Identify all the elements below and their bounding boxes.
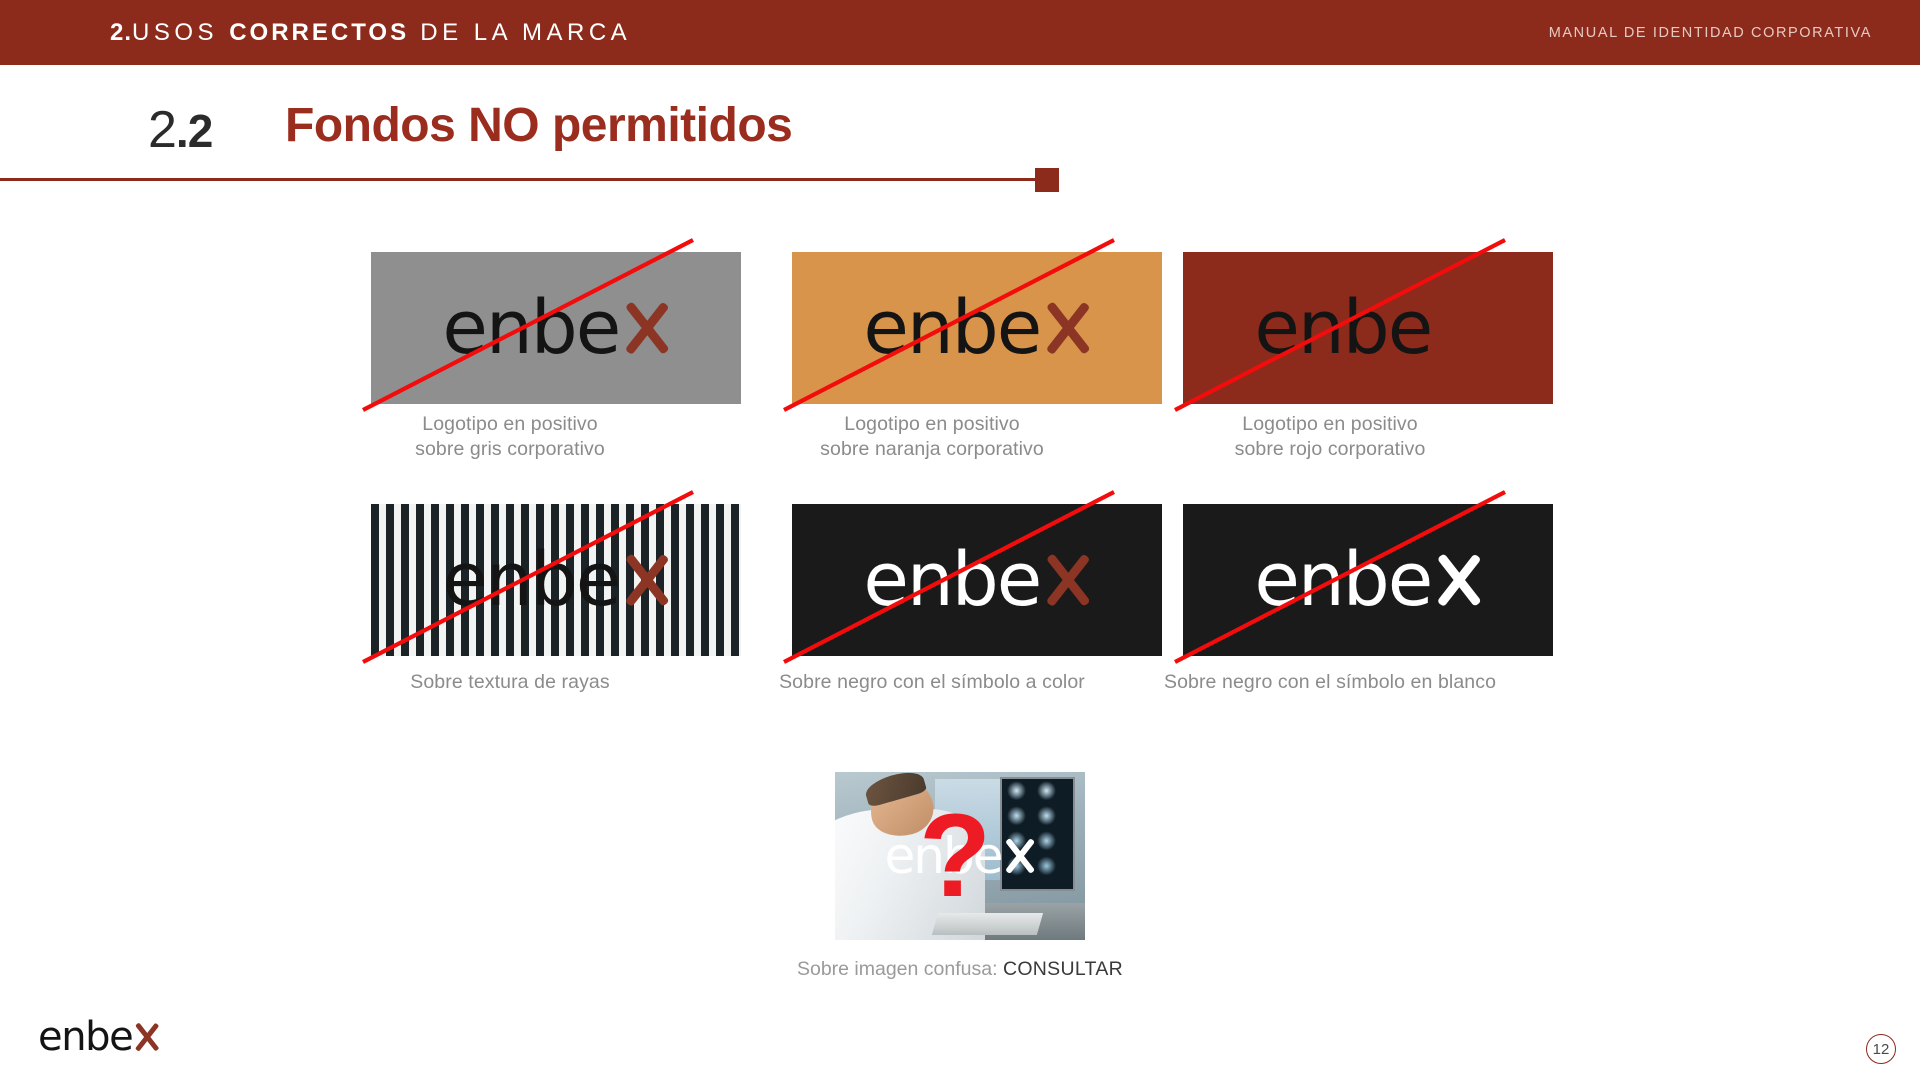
sample-swatch: enbe bbox=[1183, 504, 1553, 656]
logo-x-symbol-icon bbox=[624, 557, 670, 603]
sample-caption-line-1: Logotipo en positivo bbox=[722, 412, 1142, 437]
confusing-photo-sample: enbe ? bbox=[835, 772, 1085, 940]
sample-card-imagen-confusa: enbe ? Sobre imagen confusa: CONSULTAR bbox=[750, 772, 1170, 940]
title-rule bbox=[0, 178, 1035, 181]
sample-caption: Logotipo en positivo sobre rojo corporat… bbox=[1120, 412, 1540, 461]
logo-wordmark: enbe bbox=[442, 543, 619, 617]
header-section-number: 2. bbox=[110, 19, 132, 46]
sample-caption-line-2: sobre gris corporativo bbox=[300, 437, 720, 462]
sample-caption-line-1: Logotipo en positivo bbox=[1120, 412, 1540, 437]
sample-caption-line-1: Sobre textura de rayas bbox=[300, 670, 720, 695]
sample-caption-line-2: sobre rojo corporativo bbox=[1120, 437, 1540, 462]
question-mark-icon: ? bbox=[919, 797, 991, 915]
logo-x-symbol-icon bbox=[1045, 557, 1091, 603]
logo-wordmark: enbe bbox=[863, 543, 1040, 617]
header-manual-label: MANUAL DE IDENTIDAD CORPORATIVA bbox=[1549, 25, 1872, 41]
logo-wordmark: enbe bbox=[1254, 291, 1431, 365]
sample-caption: Sobre negro con el símbolo en blanco bbox=[1120, 670, 1540, 695]
sample-swatch: enbe bbox=[1183, 252, 1553, 404]
page-header: 2.USOS CORRECTOS DE LA MARCA MANUAL DE I… bbox=[0, 0, 1920, 65]
sample-caption-line-1: Sobre negro con el símbolo a color bbox=[722, 670, 1142, 695]
enbex-logo: enbe bbox=[442, 543, 669, 617]
logo-overlay: enbe bbox=[1183, 252, 1553, 404]
sample-caption: Sobre imagen confusa: CONSULTAR bbox=[750, 958, 1170, 981]
logo-x-symbol-icon bbox=[1436, 557, 1482, 603]
section-number-minor: .2 bbox=[176, 105, 212, 157]
footer-brand-logo: enbe bbox=[38, 1014, 159, 1060]
page-title: Fondos NO permitidos bbox=[285, 98, 792, 153]
sample-caption: Logotipo en positivo sobre naranja corpo… bbox=[722, 412, 1142, 461]
logo-wordmark: enbe bbox=[442, 291, 619, 365]
logo-x-symbol-icon bbox=[624, 305, 670, 351]
logo-overlay: enbe bbox=[371, 252, 741, 404]
enbex-logo: enbe bbox=[442, 291, 669, 365]
sample-caption-line-1: Logotipo en positivo bbox=[300, 412, 720, 437]
sample-swatch: enbe bbox=[792, 252, 1162, 404]
header-section-title: 2.USOS CORRECTOS DE LA MARCA bbox=[110, 19, 631, 47]
sample-swatch: enbe bbox=[371, 252, 741, 404]
enbex-logo: enbe bbox=[1254, 291, 1481, 365]
page-number-badge: 12 bbox=[1866, 1034, 1896, 1064]
enbex-logo: enbe bbox=[1254, 543, 1481, 617]
sample-caption: Sobre textura de rayas bbox=[300, 670, 720, 695]
sample-card-negro-simbolo-blanco: enbe Sobre negro con el símbolo en blanc… bbox=[1120, 504, 1540, 656]
page-title-block: 2.2 Fondos NO permitidos bbox=[0, 96, 1920, 176]
sample-caption: Sobre negro con el símbolo a color bbox=[722, 670, 1142, 695]
enbex-logo: enbe bbox=[863, 543, 1090, 617]
photo-caption-emphasis: CONSULTAR bbox=[1003, 958, 1123, 980]
section-number-major: 2 bbox=[148, 101, 176, 159]
sample-card-rojo-corporativo: enbe Logotipo en positivo sobre rojo cor… bbox=[1120, 252, 1540, 404]
logo-wordmark: enbe bbox=[38, 1014, 132, 1060]
header-title-part-1: USOS bbox=[132, 19, 229, 46]
logo-overlay: enbe bbox=[1183, 504, 1553, 656]
sample-caption-line-2: sobre naranja corporativo bbox=[722, 437, 1142, 462]
logo-wordmark: enbe bbox=[1254, 543, 1431, 617]
photo-caption-prefix: Sobre imagen confusa: bbox=[797, 958, 1003, 980]
sample-swatch: enbe bbox=[371, 504, 741, 656]
section-number: 2.2 bbox=[148, 100, 212, 160]
logo-x-symbol-icon bbox=[1004, 841, 1035, 872]
sample-card-negro-simbolo-color: enbe Sobre negro con el símbolo a color bbox=[722, 504, 1142, 656]
header-title-bold: CORRECTOS bbox=[229, 19, 409, 46]
title-rule-end-square bbox=[1035, 168, 1059, 192]
logo-x-symbol-icon bbox=[135, 1025, 159, 1049]
logo-overlay: enbe bbox=[792, 252, 1162, 404]
sample-caption-line-1: Sobre negro con el símbolo en blanco bbox=[1120, 670, 1540, 695]
logo-wordmark: enbe bbox=[863, 291, 1040, 365]
sample-swatch: enbe bbox=[792, 504, 1162, 656]
header-title-part-2: DE LA MARCA bbox=[409, 19, 631, 46]
sample-card-naranja-corporativo: enbe Logotipo en positivo sobre naranja … bbox=[722, 252, 1142, 404]
logo-overlay: enbe bbox=[792, 504, 1162, 656]
enbex-logo: enbe bbox=[863, 291, 1090, 365]
logo-overlay: enbe bbox=[371, 504, 741, 656]
logo-x-symbol-icon bbox=[1045, 305, 1091, 351]
sample-card-gris-corporativo: enbe Logotipo en positivo sobre gris cor… bbox=[300, 252, 720, 404]
sample-caption: Logotipo en positivo sobre gris corporat… bbox=[300, 412, 720, 461]
logo-x-symbol-icon bbox=[1436, 305, 1482, 351]
sample-card-textura-rayas: enbe Sobre textura de rayas bbox=[300, 504, 720, 656]
